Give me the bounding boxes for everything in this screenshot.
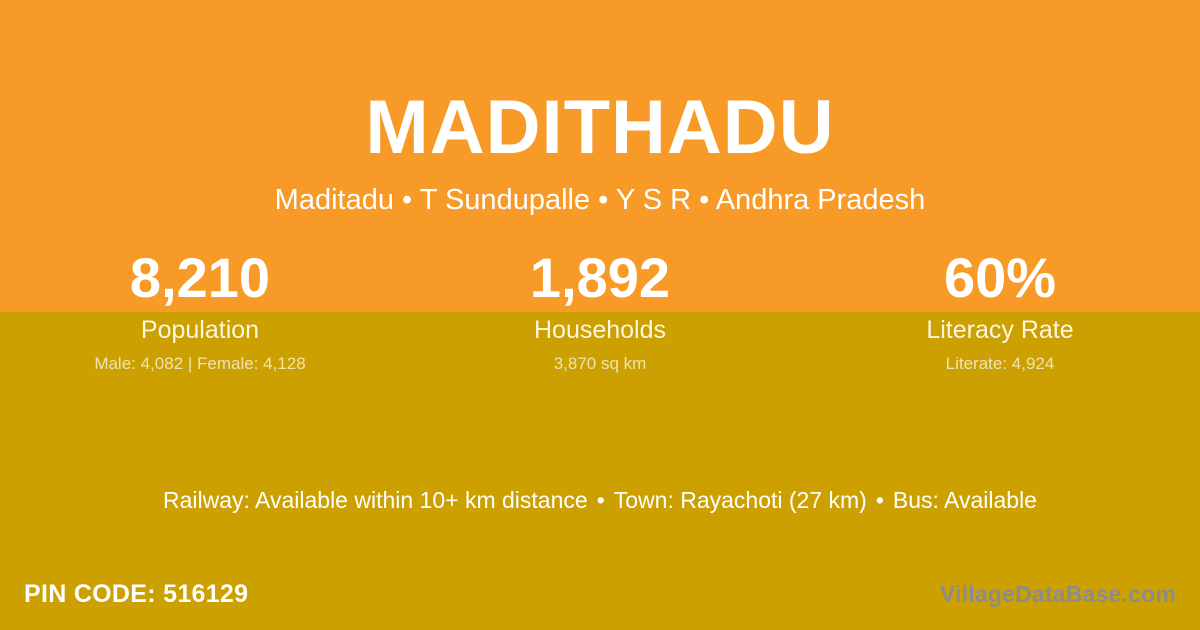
stat-sub-literacy-rate: Literate: 4,924 bbox=[800, 353, 1200, 375]
stat-households: 1,892 Households 3,870 sq km bbox=[400, 244, 800, 375]
amenity-bus: Bus: Available bbox=[893, 487, 1037, 513]
stat-label-population: Population bbox=[0, 314, 400, 346]
stat-value-households: 1,892 bbox=[400, 244, 800, 312]
site-brand: VillageDataBase.com bbox=[940, 579, 1176, 609]
village-info-card: MADITHADU Maditadu • T Sundupalle • Y S … bbox=[0, 0, 1200, 630]
location-breadcrumb: Maditadu • T Sundupalle • Y S R • Andhra… bbox=[0, 181, 1200, 219]
stat-sub-households: 3,870 sq km bbox=[400, 353, 800, 375]
stat-label-literacy-rate: Literacy Rate bbox=[800, 314, 1200, 346]
amenity-separator-2: • bbox=[867, 484, 893, 516]
page-title: MADITHADU bbox=[0, 82, 1200, 174]
amenity-railway: Railway: Available within 10+ km distanc… bbox=[163, 487, 588, 513]
amenities-row: Railway: Available within 10+ km distanc… bbox=[0, 484, 1200, 516]
footer: PIN CODE: 516129 VillageDataBase.com bbox=[0, 558, 1200, 630]
stats-row: 8,210 Population Male: 4,082 | Female: 4… bbox=[0, 244, 1200, 375]
stat-sub-population: Male: 4,082 | Female: 4,128 bbox=[0, 353, 400, 375]
stat-population: 8,210 Population Male: 4,082 | Female: 4… bbox=[0, 244, 400, 375]
amenity-town: Town: Rayachoti (27 km) bbox=[614, 487, 867, 513]
pin-code: PIN CODE: 516129 bbox=[24, 578, 248, 610]
stat-literacy-rate: 60% Literacy Rate Literate: 4,924 bbox=[800, 244, 1200, 375]
stat-value-population: 8,210 bbox=[0, 244, 400, 312]
stat-value-literacy-rate: 60% bbox=[800, 244, 1200, 312]
stat-label-households: Households bbox=[400, 314, 800, 346]
amenity-separator-1: • bbox=[588, 484, 614, 516]
